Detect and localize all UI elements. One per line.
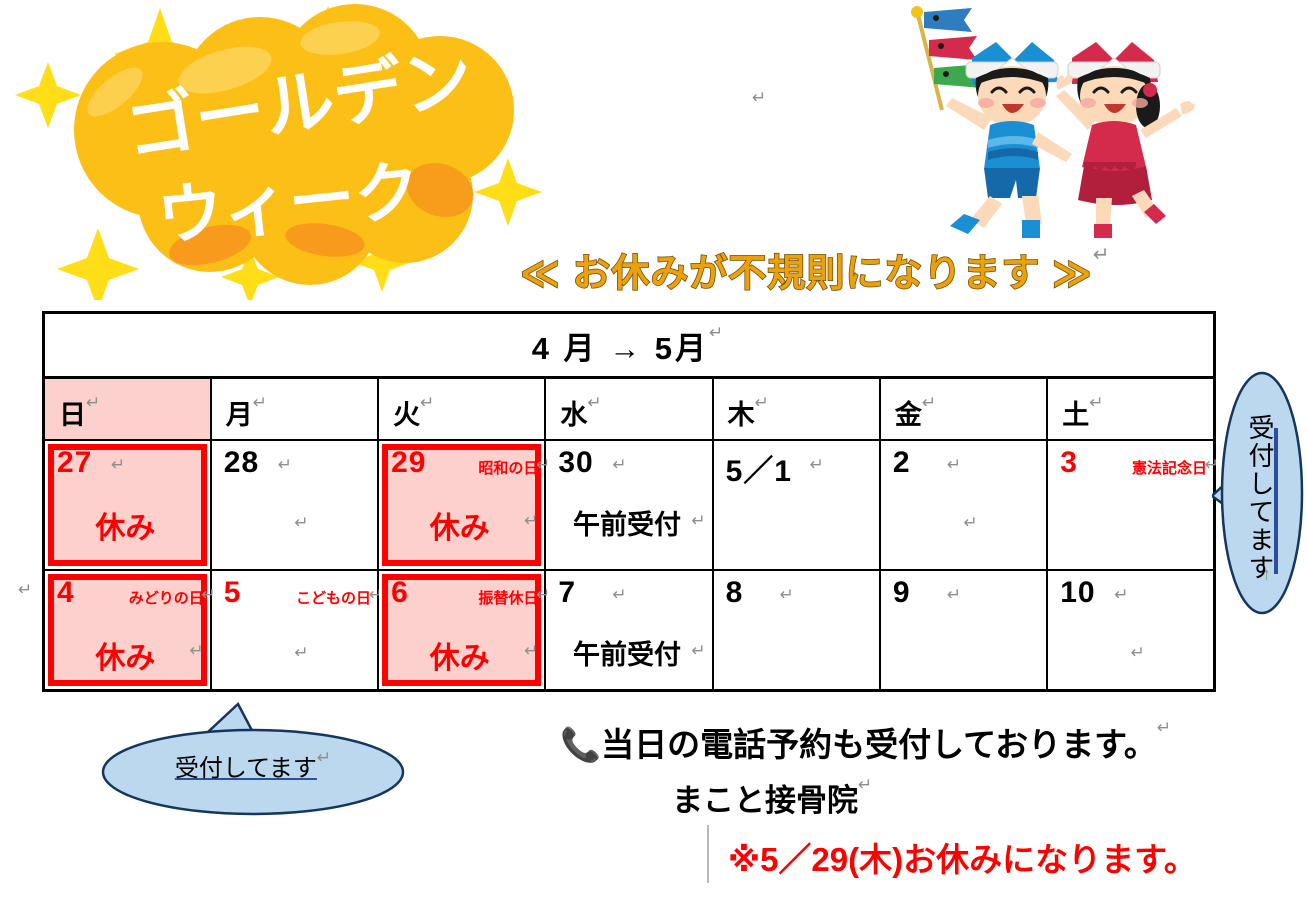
return-mark: ↵ [1157,718,1171,737]
weekday-label: 土 [1062,400,1089,430]
return-mark-top: ↵ [752,88,766,108]
weekday-header-日: 日↵ [44,378,211,441]
return-mark: ↵ [780,585,794,605]
return-mark: ↵ [1114,585,1128,605]
calendar-day-cell[interactable]: 28↵↵ [211,440,378,570]
calendar-day-cell[interactable]: 4みどりの日↵休み↵ [44,570,211,691]
return-mark: ↵ [612,455,626,475]
return-mark: ↵ [810,455,824,475]
footer-line-1-text: 当日の電話予約も受付しております。 [601,726,1157,763]
weekday-label: 火 [393,400,420,430]
calendar-day-cell[interactable]: 10↵↵ [1047,570,1214,691]
day-number: 6 [391,576,409,610]
return-mark: ↵ [278,455,292,475]
headline-text: ≪ お休みが不規則になります ≫ [520,253,1093,295]
day-number: 29 [391,446,426,480]
calendar-day-cell[interactable]: 7↵午前受付↵ [545,570,712,691]
day-number: 2 [893,446,911,480]
weekday-label: 月 [226,400,253,430]
holiday-name: 振替休日 [478,587,538,608]
return-mark: ↵ [524,511,538,531]
return-mark: ↵ [755,393,769,412]
holiday-name: こどもの日 [296,587,371,608]
koinobori-flag-icon [911,6,982,110]
day-number: 30 [558,446,593,480]
vertical-divider-bar [707,825,709,883]
holiday-calendar: 4 月 → 5月↵日↵月↵火↵水↵木↵金↵土↵27↵休み28↵↵29昭和の日↵休… [42,311,1216,692]
bubble-bottom-text: 受付してます↵ [88,748,418,783]
return-mark: ↵ [1093,244,1111,266]
day-number: 9 [893,576,911,610]
return-mark-up: ↑ [1262,564,1271,585]
weekday-label: 日 [59,400,86,430]
bubble-bottom-label: 受付してます [175,755,317,782]
return-mark: ↵ [691,511,705,531]
return-mark: ↵ [612,585,626,605]
weekday-header-木: 木↵ [713,378,880,441]
children-illustration-svg [880,0,1200,240]
return-mark: ↵ [253,393,267,412]
calendar-day-cell[interactable]: 8↵ [713,570,880,691]
morning-reception-label: 午前受付 [546,633,707,672]
return-mark: ↵ [1089,393,1103,412]
telephone-icon: 📞 [560,726,601,763]
girl-figure [1056,42,1195,238]
return-mark: ↵ [947,585,961,605]
return-mark: ↵ [1131,643,1145,663]
calendar-day-cell[interactable]: 29昭和の日↵休み↵ [378,440,545,570]
calendar-day-cell[interactable]: 27↵休み [44,440,211,570]
calendar-day-cell[interactable]: 6振替休日↵休み↵ [378,570,545,691]
day-number: 27 [57,446,92,480]
day-number: 4 [57,576,75,610]
clinic-name: まこと接骨院↵ [672,775,872,820]
calendar-day-cell[interactable]: 3憲法記念日↵ [1047,440,1214,570]
weekday-label: 金 [895,400,922,430]
speech-bubble-bottom: 受付してます↵ [88,700,418,820]
calendar-title: 4 月 → 5月↵ [44,313,1215,378]
day-number: 5 [224,576,242,610]
headline: ≪ お休みが不規則になります ≫↵ [520,242,1280,298]
day-number: 10 [1060,576,1095,610]
morning-reception-label: 午前受付 [546,503,707,542]
weekday-header-水: 水↵ [545,378,712,441]
holiday-name: 憲法記念日 [1132,457,1207,478]
return-mark: ↵ [294,643,308,663]
clinic-name-text: まこと接骨院 [672,783,858,818]
calendar-day-cell[interactable]: 5こどもの日↵↵ [211,570,378,691]
closed-label: 休み [379,503,540,547]
calendar-day-cell[interactable]: 30↵午前受付↵ [545,440,712,570]
return-mark: ↵ [317,748,331,767]
return-mark: ↵ [190,641,204,661]
day-number: 3 [1060,446,1078,480]
return-mark: ↵ [294,513,308,533]
calendar-day-cell[interactable]: 2↵↵ [880,440,1047,570]
children-illustration [880,0,1200,240]
golden-week-logo-svg: ゴールデン ウィーク [10,0,550,300]
calendar-day-cell[interactable]: 9↵ [880,570,1047,691]
return-mark: ↵ [691,641,705,661]
holiday-name: みどりの日 [129,587,204,608]
closed-label: 休み [45,503,206,547]
return-mark: ↵ [947,455,961,475]
weekday-label: 水 [560,400,587,430]
calendar-title-text: 4 月 → 5月 [532,331,709,366]
weekday-label: 木 [728,400,755,430]
day-number: 5／1 [726,446,792,490]
return-mark: ↵ [524,641,538,661]
weekday-header-金: 金↵ [880,378,1047,441]
return-mark: ↵ [858,775,872,794]
weekday-header-火: 火↵ [378,378,545,441]
return-mark: ↵ [420,393,434,412]
weekday-header-土: 土↵ [1047,378,1214,441]
closed-label: 休み [379,633,540,677]
footer-notice: ※5／29(木)お休みになります。 [728,833,1197,881]
calendar-day-cell[interactable]: 5／1↵ [713,440,880,570]
return-mark-left: ↵ [18,580,32,600]
return-mark: ↵ [86,393,100,412]
closed-label: 休み [45,633,206,677]
bubble-right-underline [1274,428,1278,574]
return-mark: ↵ [111,455,125,475]
weekday-header-月: 月↵ [211,378,378,441]
holiday-name: 昭和の日 [478,457,538,478]
day-number: 7 [558,576,576,610]
return-mark: ↵ [587,393,601,412]
footer-line-1: 📞当日の電話予約も受付しております。↵ [560,718,1171,766]
return-mark: ↵ [922,393,936,412]
speech-bubble-right: 受付してます ↑ [1212,368,1307,618]
return-mark: ↵ [709,323,726,342]
day-number: 8 [726,576,744,610]
return-mark: ↵ [964,513,978,533]
day-number: 28 [224,446,259,480]
golden-week-logo: ゴールデン ウィーク [10,0,550,300]
